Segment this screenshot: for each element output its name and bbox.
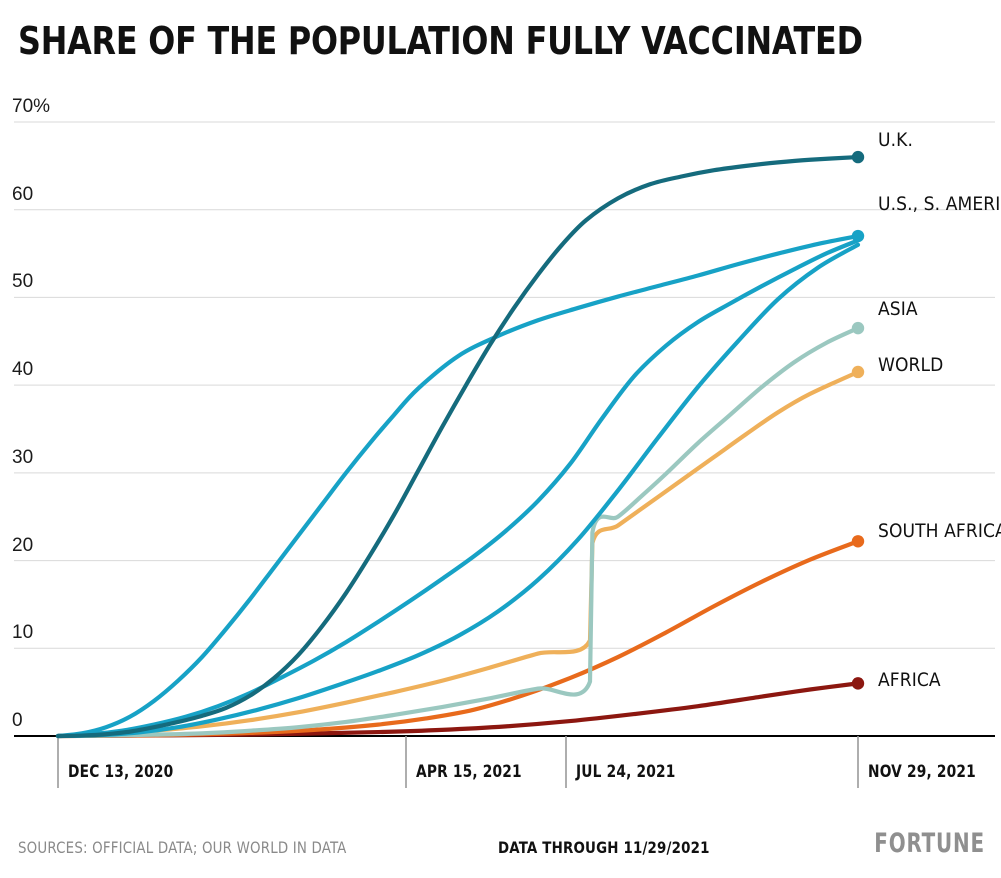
y-tick-label-70: 70% — [12, 96, 50, 118]
gridlines-group — [14, 122, 995, 648]
x-tick-label-3: NOV 29, 2021 — [868, 762, 976, 782]
endpoint-dot-south-africa — [852, 535, 864, 547]
series-label-europe: U.S., S. AMERICA, EUROPE — [878, 193, 1001, 215]
endpoint-dot-asia — [852, 322, 864, 334]
line-chart-canvas — [0, 0, 1001, 878]
y-tick-label-30: 30 — [12, 447, 33, 469]
endpoint-dot-europe — [852, 230, 864, 242]
footer-data-through: DATA THROUGH 11/29/2021 — [498, 838, 710, 857]
y-tick-label-50: 50 — [12, 271, 33, 293]
endpoint-dot-africa — [852, 677, 864, 689]
series-lines-group — [58, 157, 858, 736]
x-tick-label-1: APR 15, 2021 — [416, 762, 522, 782]
series-label-asia: ASIA — [878, 298, 918, 320]
y-tick-label-10: 10 — [12, 622, 33, 644]
series-label-world: WORLD — [878, 354, 943, 376]
y-tick-label-40: 40 — [12, 359, 33, 381]
footer-sources: SOURCES: OFFICIAL DATA; OUR WORLD IN DAT… — [18, 838, 347, 857]
series-line-s-america — [58, 245, 858, 736]
endpoint-dot-world — [852, 366, 864, 378]
chart-figure: SHARE OF THE POPULATION FULLY VACCINATED… — [0, 0, 1001, 878]
y-tick-label-20: 20 — [12, 535, 33, 557]
y-tick-label-0: 0 — [12, 710, 23, 732]
series-label-south-africa: SOUTH AFRICA — [878, 520, 1001, 542]
y-tick-label-60: 60 — [12, 184, 33, 206]
series-line-south-africa — [58, 541, 858, 736]
endpoint-dot-u-k- — [852, 151, 864, 163]
x-tick-label-2: JUL 24, 2021 — [576, 762, 676, 782]
fortune-logo: FORTUNE — [874, 828, 985, 859]
series-line-u-s- — [58, 240, 858, 736]
series-endpoint-dots-group — [852, 151, 864, 690]
series-line-u-k- — [58, 157, 858, 736]
series-line-europe — [58, 236, 858, 736]
series-label-u-k-: U.K. — [878, 129, 913, 151]
x-tick-label-0: DEC 13, 2020 — [68, 762, 173, 782]
series-label-africa: AFRICA — [878, 669, 941, 691]
